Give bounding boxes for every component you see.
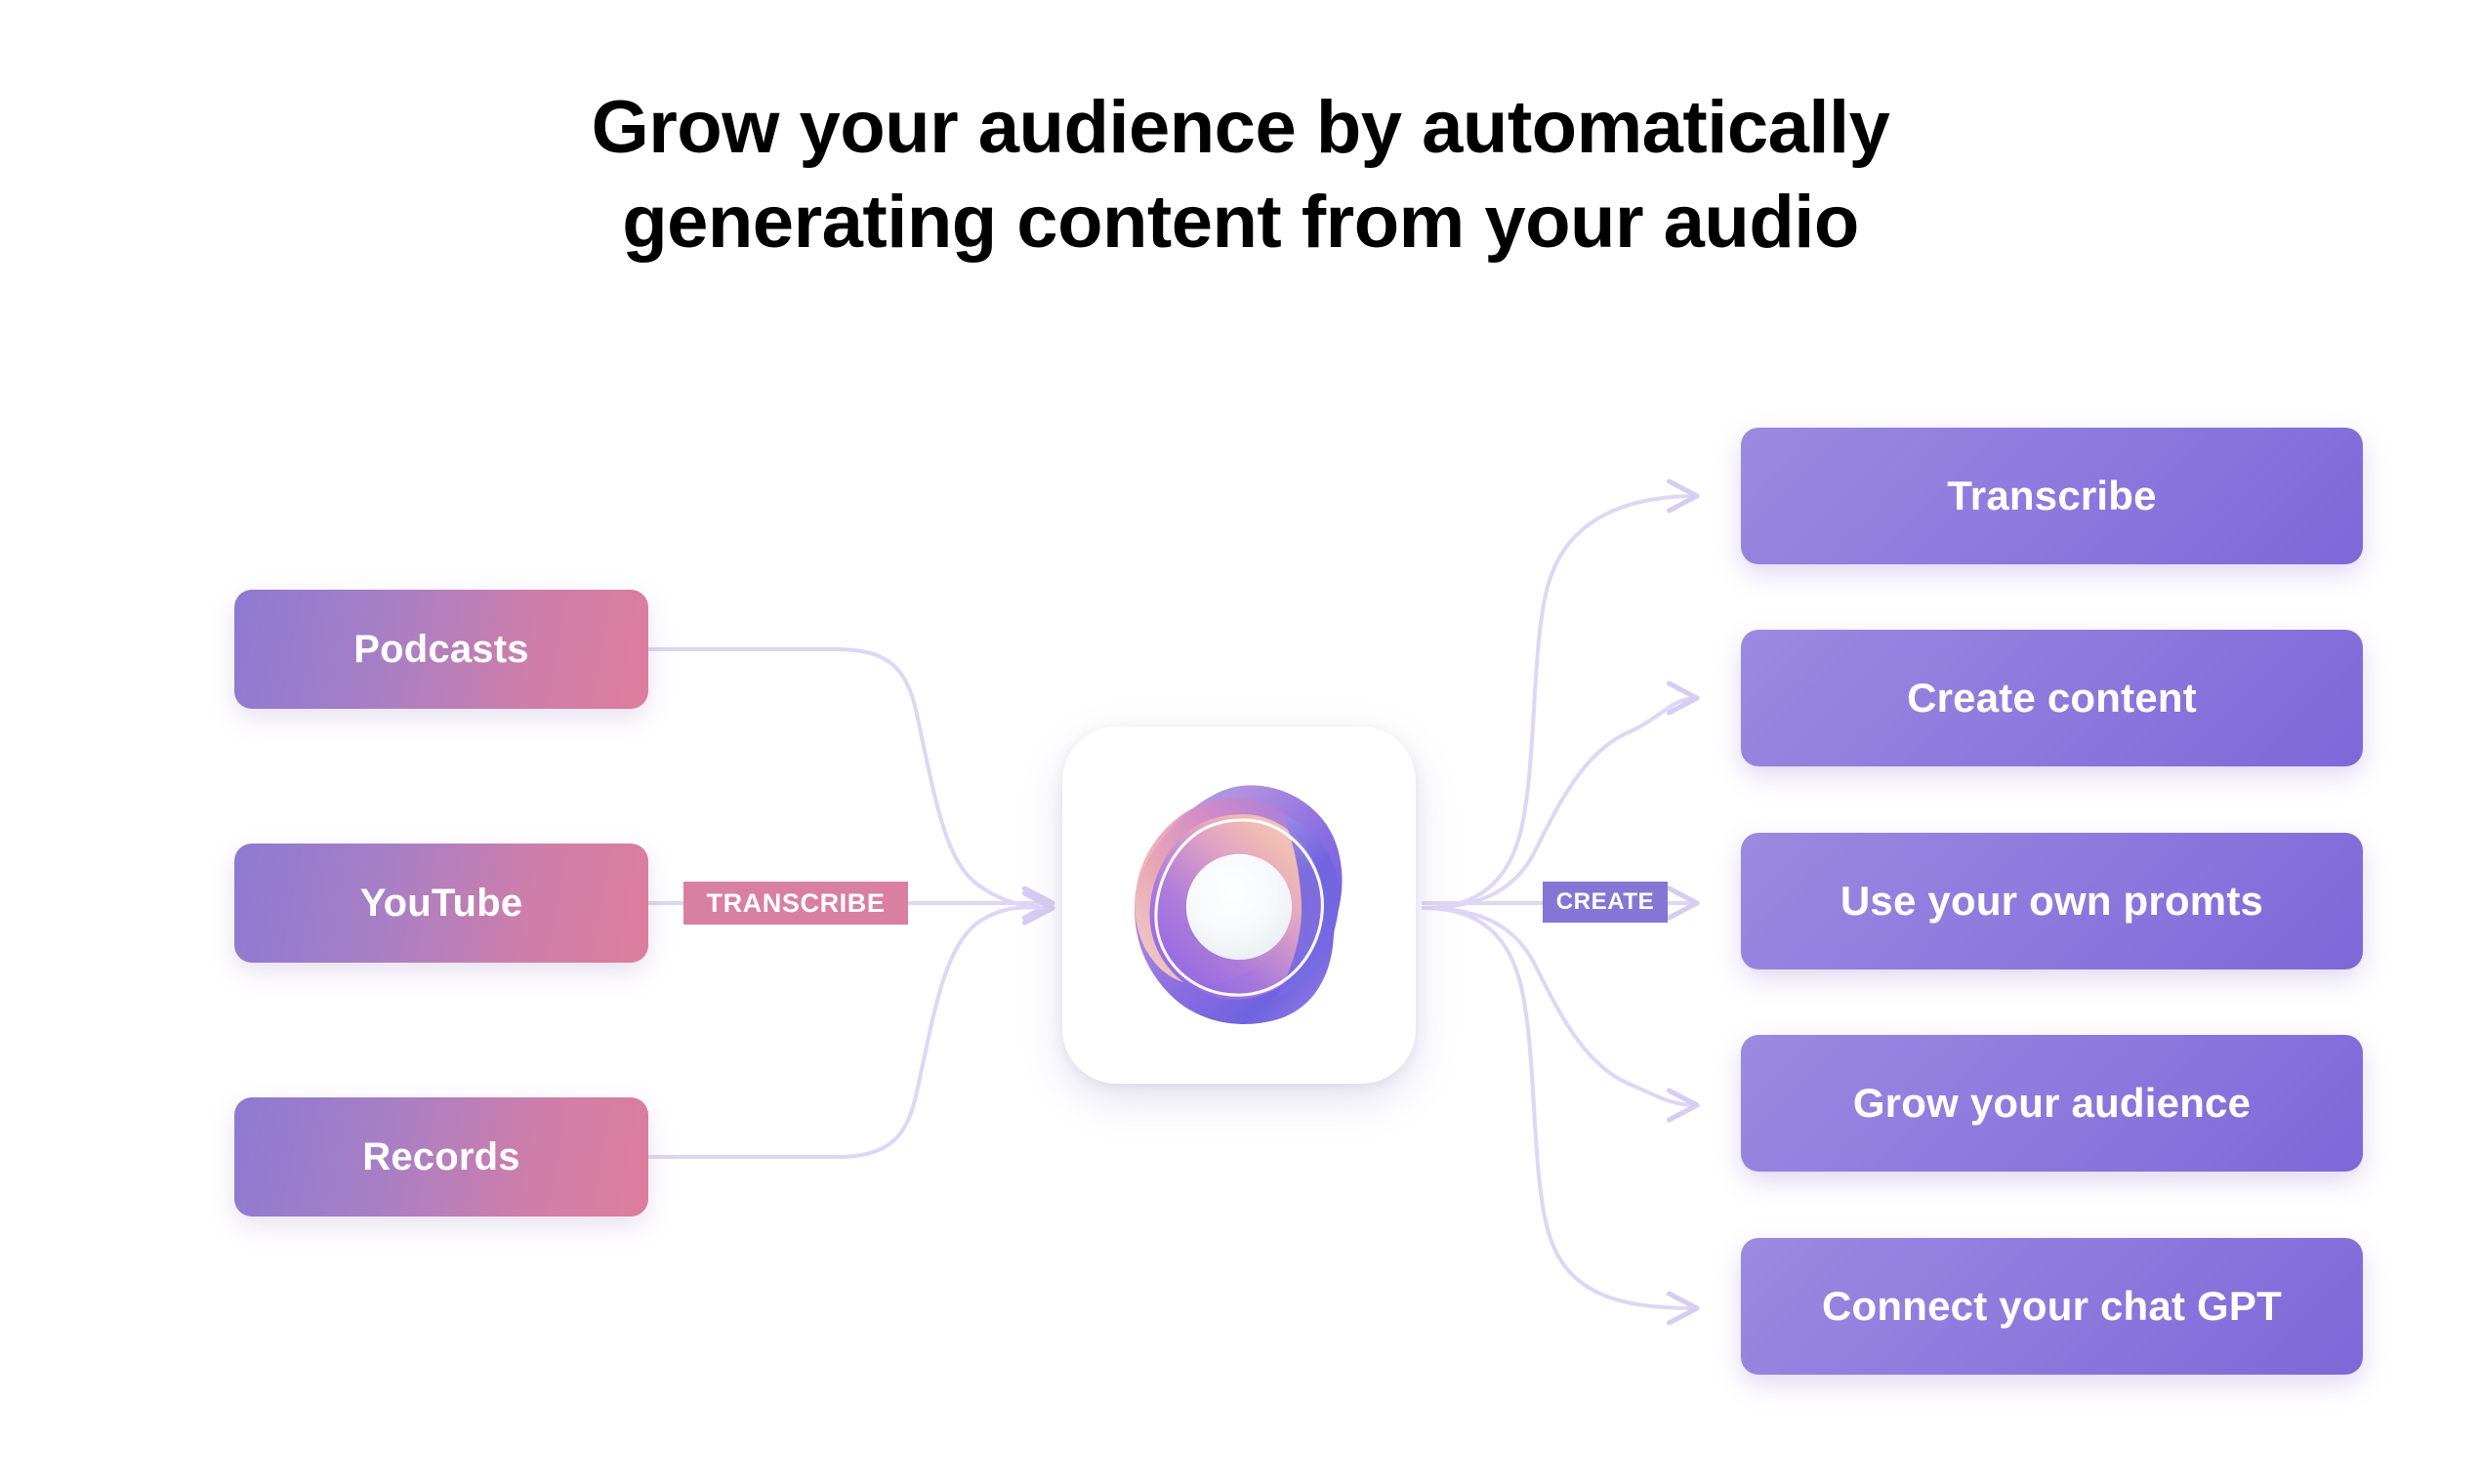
output-box-transcribe[interactable]: Transcribe (1741, 428, 2363, 564)
output-box-label: Transcribe (1947, 473, 2156, 519)
wire-create-content (1424, 698, 1697, 908)
wire-connect-chat-gpt (1424, 908, 1697, 1308)
page-title-line-2: generating content from your audio (0, 175, 2481, 269)
output-box-connect-chat-gpt[interactable]: Connect your chat GPT (1741, 1238, 2363, 1375)
wire-grow-your-audience (1424, 908, 1697, 1105)
source-box-label: Records (362, 1135, 519, 1179)
output-box-label: Use your own promts (1840, 878, 2263, 925)
page-title: Grow your audience by automatically gene… (0, 80, 2481, 270)
wire-transcribe (1424, 496, 1697, 908)
edge-label-text: TRANSCRIBE (706, 888, 885, 919)
output-box-label: Connect your chat GPT (1822, 1283, 2282, 1330)
output-box-use-your-own-promts[interactable]: Use your own promts (1741, 833, 2363, 969)
wire-records (648, 907, 1053, 1157)
source-box-label: YouTube (360, 882, 523, 926)
abstract-blob-logo-icon (1097, 763, 1381, 1047)
source-box-label: Podcasts (353, 628, 528, 672)
edge-label-transcribe: TRANSCRIBE (683, 882, 908, 925)
source-box-youtube[interactable]: YouTube (234, 844, 648, 963)
edge-label-text: CREATE (1556, 888, 1655, 916)
wire-podcasts (648, 649, 1053, 908)
diagram-canvas: Grow your audience by automatically gene… (0, 0, 2481, 1484)
output-box-create-content[interactable]: Create content (1741, 630, 2363, 766)
source-box-records[interactable]: Records (234, 1097, 648, 1216)
output-box-label: Grow your audience (1853, 1080, 2251, 1127)
page-title-line-1: Grow your audience by automatically (0, 80, 2481, 175)
edge-label-create: CREATE (1543, 882, 1668, 923)
app-logo-card[interactable] (1062, 726, 1416, 1084)
output-box-grow-your-audience[interactable]: Grow your audience (1741, 1035, 2363, 1172)
output-box-label: Create content (1907, 675, 2197, 721)
source-box-podcasts[interactable]: Podcasts (234, 590, 648, 709)
